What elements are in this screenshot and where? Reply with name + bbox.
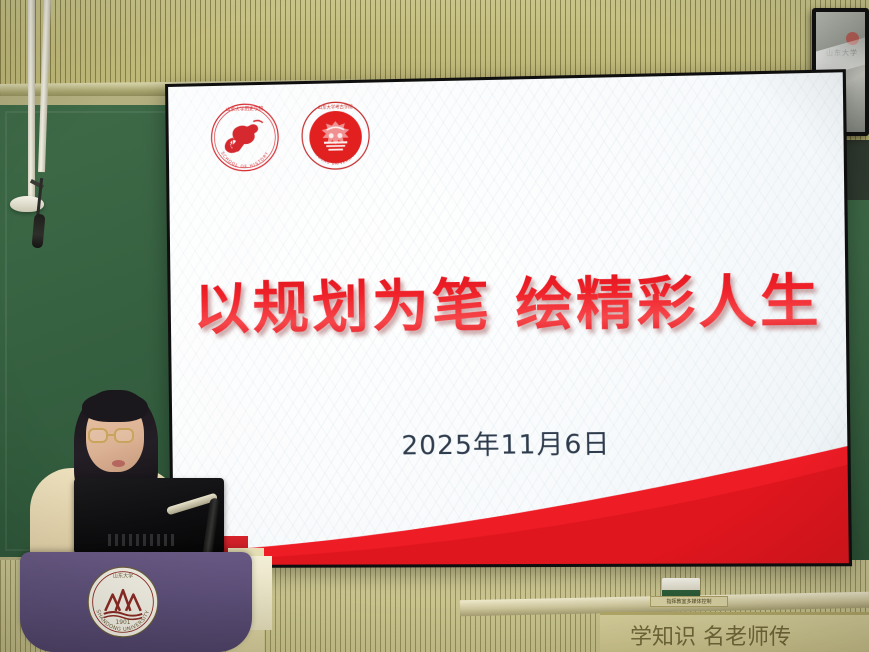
glasses-bridge: [108, 434, 114, 436]
presentation-slide: 山东大学历史学院 SCHOOL OF HISTORY: [165, 69, 852, 568]
speaker-mouth: [112, 460, 125, 467]
slide-title: 以规划为笔 绘精彩人生: [170, 255, 846, 346]
svg-text:1901: 1901: [115, 620, 130, 626]
projection-screen: 山东大学历史学院 SCHOOL OF HISTORY: [165, 69, 852, 568]
ledge-device-label: 指挥教室多媒体控制: [650, 596, 728, 607]
podium-papers: [250, 556, 272, 630]
bottom-banner-text: 学知识 名老师传: [630, 619, 791, 651]
lecture-hall-photo: 山东大学: [0, 0, 869, 652]
bottom-banner: 学知识 名老师传: [600, 612, 869, 652]
ledge-device[interactable]: [662, 578, 700, 598]
speaker-hair-front: [82, 392, 148, 422]
slide-logo-row: 山东大学历史学院 SCHOOL OF HISTORY: [208, 99, 372, 175]
shandong-university-seal-icon: 山东大学考古学院 SHANDONG UNIVERSITY: [299, 99, 373, 173]
slide-date: 2025年11月6日: [172, 421, 847, 464]
school-of-history-seal-icon: 山东大学历史学院 SCHOOL OF HISTORY: [208, 101, 281, 175]
podium-monitor[interactable]: [74, 478, 224, 554]
lens-left: [88, 428, 108, 443]
ceiling-pole-icon: [28, 0, 35, 205]
shandong-university-emblem-icon: 1901 SHANDONG UNIVERSITY 山东大学: [86, 565, 160, 639]
lens-right: [114, 428, 134, 443]
monitor-vents: [108, 534, 174, 546]
svg-text:山东大学历史学院: 山东大学历史学院: [226, 105, 264, 113]
